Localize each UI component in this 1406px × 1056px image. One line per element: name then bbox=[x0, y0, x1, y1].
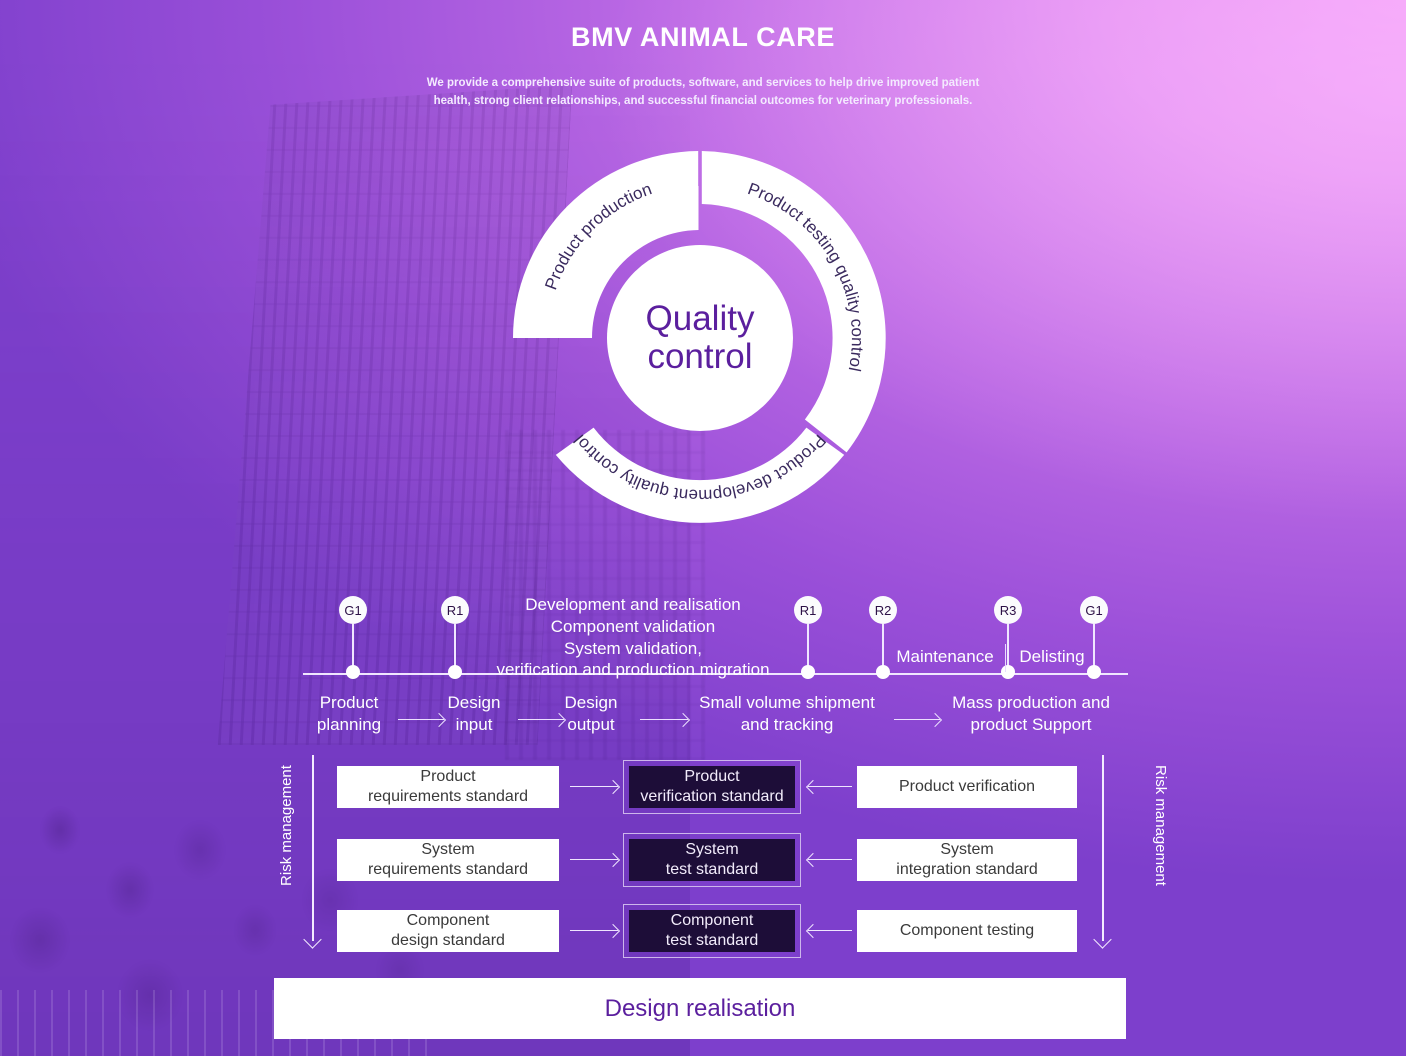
roadmap-timeline: G1 R1 R1 R2 R3 G1 Development and realis… bbox=[0, 596, 1406, 746]
matrix-arrow-row2-left bbox=[570, 854, 618, 866]
timeline-marker-dot bbox=[346, 665, 360, 679]
risk-management-right-label: Risk management bbox=[1152, 765, 1169, 886]
matrix-cell-component-design-standard[interactable]: Component design standard bbox=[337, 910, 559, 952]
stage-product-planning[interactable]: Product planning bbox=[303, 692, 395, 736]
cell-line-1: Product bbox=[640, 767, 783, 787]
phase-dev-line-3: System validation, bbox=[483, 638, 783, 660]
stage-line-1: Design bbox=[428, 692, 520, 714]
timeline-marker-stem bbox=[352, 624, 354, 666]
risk-arrow-head-icon bbox=[1093, 930, 1111, 948]
cell-line-1: Product bbox=[368, 767, 528, 787]
timeline-marker-dot bbox=[801, 665, 815, 679]
quality-control-donut: Product production Product testing quali… bbox=[513, 151, 887, 525]
timeline-phase-development: Development and realisation Component va… bbox=[483, 594, 783, 681]
cell-line-2: test standard bbox=[666, 860, 759, 880]
donut-svg: Product production Product testing quali… bbox=[513, 151, 887, 525]
stage-design-output[interactable]: Design output bbox=[545, 692, 637, 736]
design-realisation-label: Design realisation bbox=[605, 995, 796, 1023]
stage-line-2: product Support bbox=[938, 714, 1124, 736]
timeline-marker[interactable]: R1 bbox=[808, 596, 822, 624]
stage-small-volume-shipment[interactable]: Small volume shipment and tracking bbox=[688, 692, 886, 736]
timeline-marker-dot bbox=[448, 665, 462, 679]
page-title: BMV ANIMAL CARE bbox=[0, 22, 1406, 53]
timeline-marker-badge[interactable]: G1 bbox=[339, 596, 367, 624]
risk-arrow-line bbox=[312, 755, 314, 941]
donut-ring-3[interactable] bbox=[556, 428, 844, 523]
cell-line-1: Product verification bbox=[899, 777, 1035, 797]
timeline-marker-stem bbox=[807, 624, 809, 666]
phase-dev-line-2: Component validation bbox=[483, 616, 783, 638]
timeline-marker[interactable]: G1 bbox=[353, 596, 367, 624]
timeline-marker[interactable]: R3 bbox=[1008, 596, 1022, 624]
timeline-marker-stem bbox=[882, 624, 884, 666]
risk-arrow-line bbox=[1102, 755, 1104, 941]
stage-line-1: Product bbox=[303, 692, 395, 714]
timeline-phase-maintenance: Maintenance bbox=[885, 646, 1005, 668]
matrix-arrow-row3-left bbox=[570, 925, 618, 937]
cell-line-2: verification standard bbox=[640, 787, 783, 807]
timeline-phase-divider bbox=[1005, 644, 1006, 672]
phase-dev-line-4: verification and production migration bbox=[483, 659, 783, 681]
cell-line-1: Component bbox=[666, 911, 759, 931]
timeline-marker-stem bbox=[454, 624, 456, 666]
cell-line-2: test standard bbox=[666, 931, 759, 951]
matrix-cell-component-testing[interactable]: Component testing bbox=[857, 910, 1077, 952]
risk-management-right: Risk management bbox=[1090, 755, 1150, 960]
risk-management-left-label: Risk management bbox=[278, 765, 295, 886]
stage-line-2: and tracking bbox=[688, 714, 886, 736]
timeline-marker-badge[interactable]: R3 bbox=[994, 596, 1022, 624]
cell-line-1: System bbox=[896, 840, 1037, 860]
cell-line-2: requirements standard bbox=[368, 860, 528, 880]
header: BMV ANIMAL CARE We provide a comprehensi… bbox=[0, 0, 1406, 111]
design-realisation-banner[interactable]: Design realisation bbox=[274, 978, 1126, 1039]
stage-mass-production[interactable]: Mass production and product Support bbox=[938, 692, 1124, 736]
stage-line-2: input bbox=[428, 714, 520, 736]
stage-line-1: Small volume shipment bbox=[688, 692, 886, 714]
cell-line-2: requirements standard bbox=[368, 787, 528, 807]
cell-line-2: design standard bbox=[391, 931, 505, 951]
matrix-cell-product-requirements-standard[interactable]: Product requirements standard bbox=[337, 766, 559, 808]
timeline-marker-badge[interactable]: R2 bbox=[869, 596, 897, 624]
timeline-marker-badge[interactable]: G1 bbox=[1080, 596, 1108, 624]
stage-line-1: Design bbox=[545, 692, 637, 714]
matrix-arrow-row1-left bbox=[570, 781, 618, 793]
stage-design-input[interactable]: Design input bbox=[428, 692, 520, 736]
phase-dev-line-1: Development and realisation bbox=[483, 594, 783, 616]
stage-line-1: Mass production and bbox=[938, 692, 1124, 714]
v-model-matrix: Risk management Risk management Product … bbox=[0, 760, 1406, 960]
donut-center-disc bbox=[607, 245, 793, 431]
cell-line-1: Component testing bbox=[900, 921, 1034, 941]
timeline-phase-delisting: Delisting bbox=[1012, 646, 1092, 668]
matrix-cell-system-test-standard[interactable]: System test standard bbox=[629, 839, 795, 881]
matrix-cell-component-test-standard[interactable]: Component test standard bbox=[629, 910, 795, 952]
matrix-cell-system-integration-standard[interactable]: System integration standard bbox=[857, 839, 1077, 881]
matrix-cell-system-requirements-standard[interactable]: System requirements standard bbox=[337, 839, 559, 881]
stage-line-2: output bbox=[545, 714, 637, 736]
risk-management-left: Risk management bbox=[268, 755, 328, 960]
timeline-marker-stem bbox=[1007, 624, 1009, 666]
stage-line-2: planning bbox=[303, 714, 395, 736]
risk-arrow-head-icon bbox=[303, 930, 321, 948]
timeline-marker[interactable]: R2 bbox=[883, 596, 897, 624]
matrix-cell-product-verification[interactable]: Product verification bbox=[857, 766, 1077, 808]
cell-line-1: System bbox=[368, 840, 528, 860]
matrix-arrow-row3-right bbox=[808, 925, 852, 937]
timeline-marker-stem bbox=[1093, 624, 1095, 666]
timeline-marker[interactable]: R1 bbox=[455, 596, 469, 624]
cell-line-1: Component bbox=[391, 911, 505, 931]
matrix-cell-product-verification-standard[interactable]: Product verification standard bbox=[629, 766, 795, 808]
matrix-arrow-row1-right bbox=[808, 781, 852, 793]
timeline-marker-badge[interactable]: R1 bbox=[794, 596, 822, 624]
cell-line-1: System bbox=[666, 840, 759, 860]
cell-line-2: integration standard bbox=[896, 860, 1037, 880]
timeline-marker-badge[interactable]: R1 bbox=[441, 596, 469, 624]
stage-arrow-4 bbox=[894, 714, 940, 726]
matrix-arrow-row2-right bbox=[808, 854, 852, 866]
page-subtitle: We provide a comprehensive suite of prod… bbox=[413, 75, 993, 111]
timeline-marker[interactable]: G1 bbox=[1094, 596, 1108, 624]
stage-arrow-3 bbox=[640, 714, 688, 726]
